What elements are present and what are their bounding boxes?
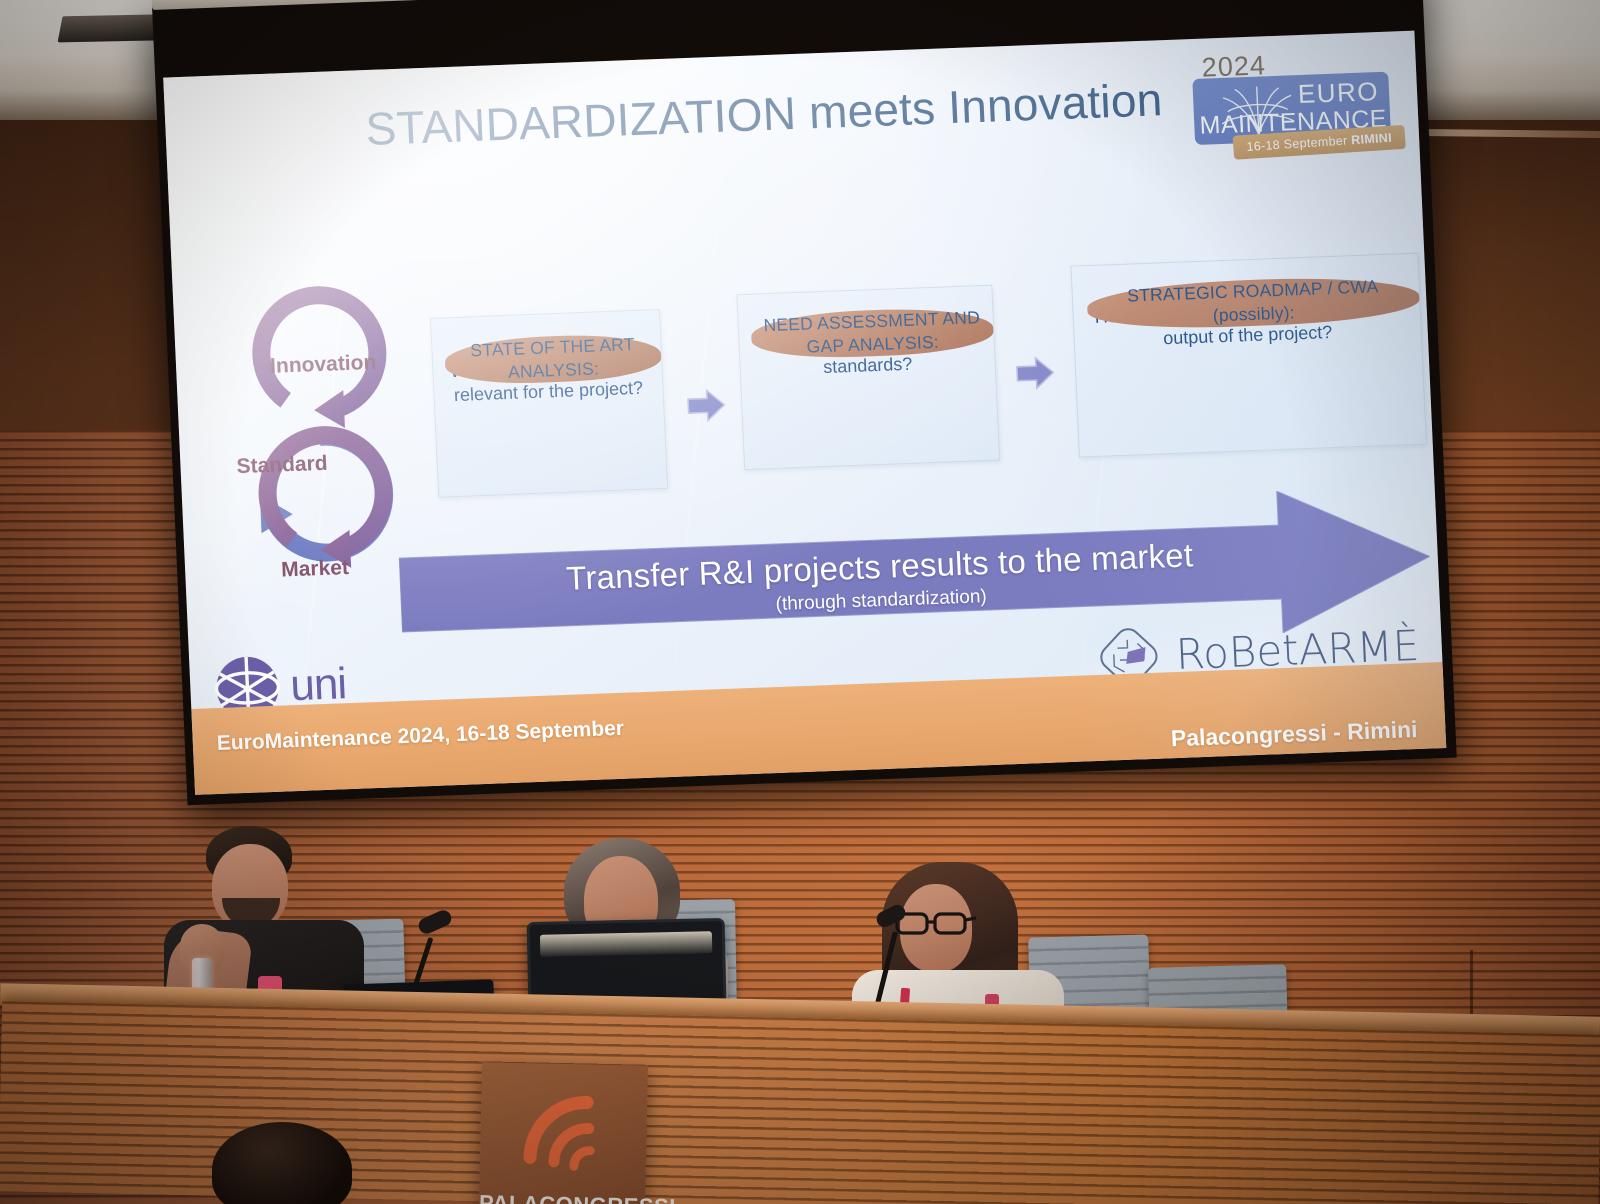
arrow-right-icon-1 xyxy=(686,387,728,424)
monitor-reflection xyxy=(540,931,712,957)
euromaintenance-logo: 2024 EURO MAINTENA xyxy=(1183,45,1402,163)
logo-city: RIMINI xyxy=(1351,131,1393,148)
cycle-label-market: Market xyxy=(281,556,350,583)
footer-event-text: EuroMaintenance 2024, 16-18 September xyxy=(216,717,624,756)
cycle-label-standard: Standard xyxy=(236,452,328,479)
process-box-strategic-roadmap: STRATEGIC ROADMAP / CWA (possibly): How … xyxy=(1070,253,1426,458)
podium-line1: PALACONGRESSI xyxy=(479,1190,646,1204)
podium-sign: PALACONGRESSI DI RIMINI xyxy=(478,1062,648,1204)
arrow-right-icon-2 xyxy=(1014,354,1056,391)
footer-venue-text: Palacongressi - Rimini xyxy=(1170,716,1418,752)
process-box-need-assessment: NEED ASSESSMENT AND GAP ANALYSIS: What's… xyxy=(736,285,1000,470)
slide-title: STANDARDIZATION meets Innovation xyxy=(364,69,1246,156)
presentation-slide: STANDARDIZATION meets Innovation 2024 xyxy=(163,31,1446,795)
logo-dates: 16-18 September xyxy=(1246,133,1352,154)
projection-screen: STANDARDIZATION meets Innovation 2024 xyxy=(152,0,1457,805)
process-box-state-of-the-art: STATE OF THE ART ANALYSIS: Which are the… xyxy=(430,309,668,498)
palacongressi-logo-icon xyxy=(507,1089,617,1187)
cycle-label-innovation: Innovation xyxy=(270,351,377,379)
eyeglasses-icon xyxy=(894,910,978,936)
conference-room-scene: STANDARDIZATION meets Innovation 2024 xyxy=(0,0,1600,1204)
